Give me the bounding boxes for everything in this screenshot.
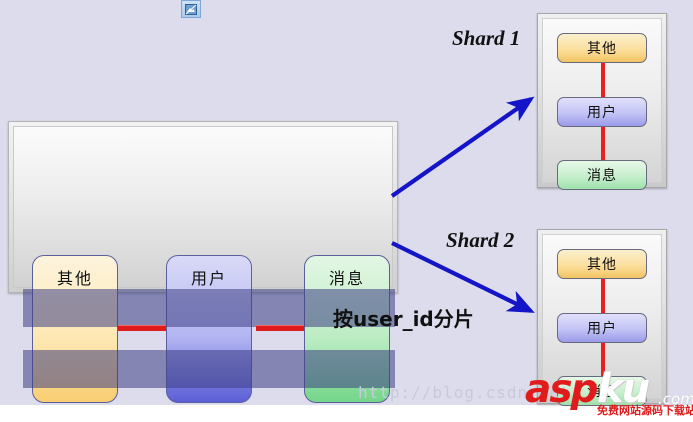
relation-link-other-user bbox=[118, 325, 166, 331]
arrow-to-shard-1 bbox=[392, 99, 531, 196]
relation-link-user-message bbox=[256, 325, 304, 331]
shard-1-node-other[interactable]: 其他 bbox=[557, 33, 647, 63]
shard-1-node-user[interactable]: 用户 bbox=[557, 97, 647, 127]
shard-2-node-user[interactable]: 用户 bbox=[557, 313, 647, 343]
aspku-asp-text: asp bbox=[525, 370, 596, 409]
shard-1-link-other-user bbox=[601, 62, 605, 98]
shard-2-link-other-user bbox=[601, 278, 605, 314]
arrow-to-shard-2 bbox=[392, 243, 531, 311]
aspku-brand-watermark: asp ku .com 免费网站源码下载站! bbox=[525, 372, 693, 414]
table-box-label: 用户 bbox=[167, 265, 251, 289]
shard-2-title: Shard 2 bbox=[446, 228, 514, 253]
unsharded-tables-panel: 其他 用户 消息 bbox=[8, 121, 398, 293]
diagram-canvas: 其他 用户 消息 Shard 1 其他 用户 消息 Shard 2 其他 用户 … bbox=[0, 0, 693, 422]
table-box-label: 其他 bbox=[33, 265, 117, 289]
shard-2-node-other[interactable]: 其他 bbox=[557, 249, 647, 279]
shard-1-link-user-message bbox=[601, 126, 605, 161]
image-placeholder-icon bbox=[181, 0, 201, 18]
table-box-label: 消息 bbox=[305, 265, 389, 289]
sharding-key-caption: 按user_id分片 bbox=[333, 303, 474, 332]
shard-1-frame: 其他 用户 消息 bbox=[537, 13, 667, 188]
shard-1-node-message[interactable]: 消息 bbox=[557, 160, 647, 190]
aspku-subtitle-text: 免费网站源码下载站! bbox=[597, 402, 693, 418]
shard-1-title: Shard 1 bbox=[452, 26, 520, 51]
shard-slice-bar-2 bbox=[23, 350, 395, 388]
